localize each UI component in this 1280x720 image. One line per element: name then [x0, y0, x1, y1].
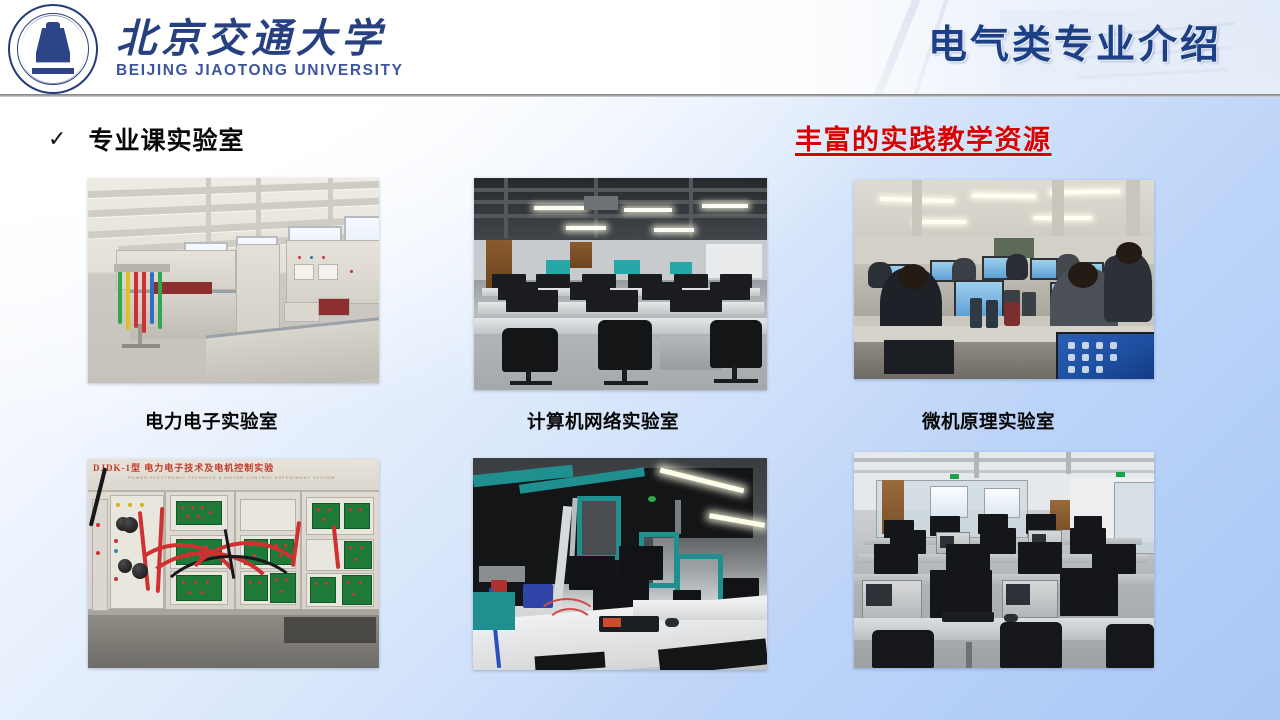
university-seal-icon — [8, 4, 98, 94]
photo-oscilloscope-lab — [854, 452, 1154, 668]
section-heading-left: ✓ 专业课实验室 — [48, 121, 244, 157]
photo-equipment-workstation-lab — [473, 458, 767, 670]
photo-caption-3: 微机原理实验室 — [922, 408, 1055, 434]
header-divider — [0, 94, 1280, 97]
logo-name-en: BEIJING JIAOTONG UNIVERSITY — [116, 62, 404, 80]
photo-djdk-experiment-panel: DJDK-1型 电力电子技术及电机控制实验 POWER ELECTRONIC T… — [88, 459, 379, 668]
photo-caption-2: 计算机网络实验室 — [527, 408, 679, 434]
photo-caption-1: 电力电子实验室 — [145, 408, 278, 434]
check-icon: ✓ — [48, 128, 66, 150]
page-title: 电气类专业介绍 — [928, 14, 1222, 70]
panel-subtitle-label: POWER ELECTRONIC TECHNICS & MOTOR CONTRO… — [128, 475, 335, 480]
section-heading-left-label: 专业课实验室 — [88, 121, 244, 157]
slide-root: 北京交通大学 BEIJING JIAOTONG UNIVERSITY 电气类专业… — [0, 0, 1280, 720]
slide-header: 北京交通大学 BEIJING JIAOTONG UNIVERSITY 电气类专业… — [0, 0, 1280, 97]
section-heading-right: 丰富的实践教学资源 — [795, 118, 1052, 157]
logo-name-cn: 北京交通大学 — [116, 18, 404, 60]
photo-power-electronics-lab — [88, 178, 379, 383]
photo-microcomputer-lab — [854, 180, 1154, 379]
photo-network-lab — [474, 178, 767, 390]
panel-model-label: DJDK-1型 电力电子技术及电机控制实验 — [93, 461, 274, 474]
university-logo: 北京交通大学 BEIJING JIAOTONG UNIVERSITY — [8, 4, 404, 94]
